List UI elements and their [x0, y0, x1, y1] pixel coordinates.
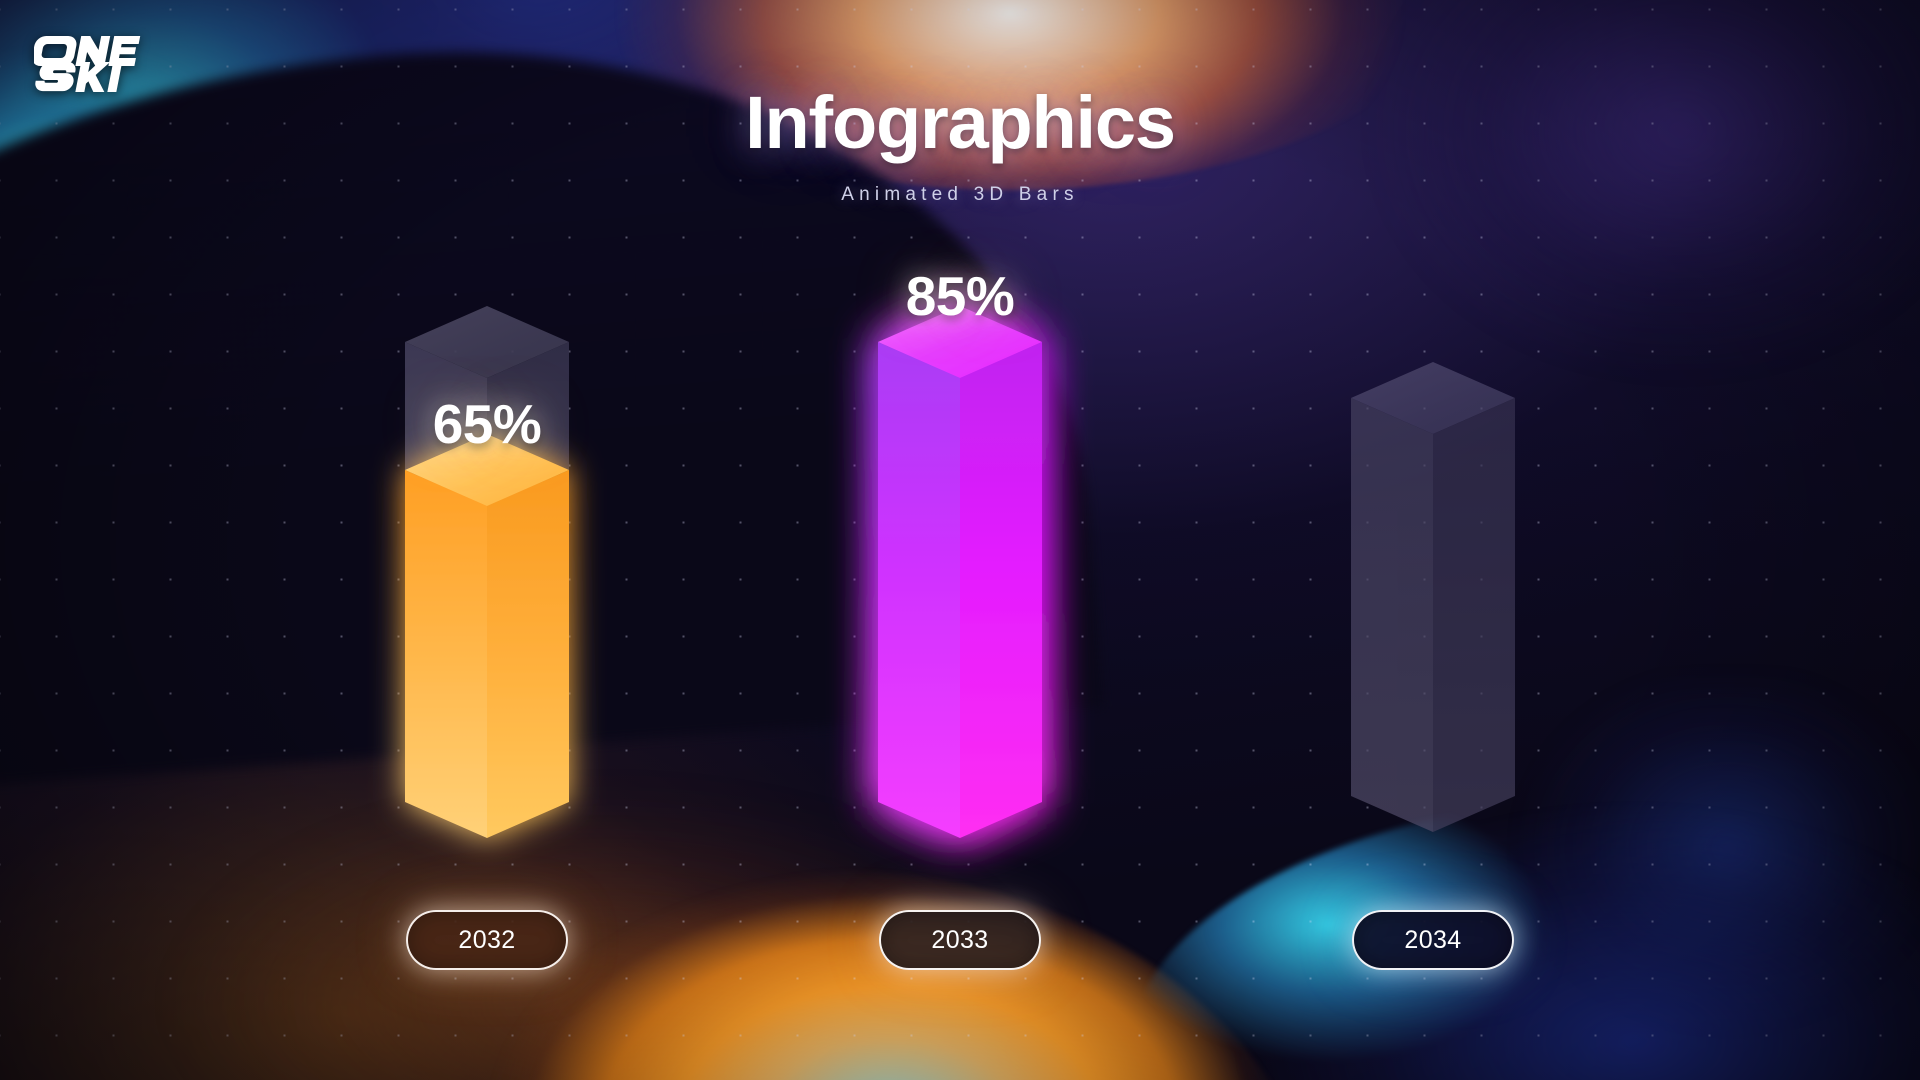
bar-value-label-2032: 65% [433, 392, 542, 456]
page-subtitle: Animated 3D Bars [0, 184, 1920, 206]
bar-label-wrap-2033: 2033 [879, 910, 1041, 970]
bar-geometry-2032 [387, 296, 587, 874]
bar-year-badge-2032[interactable]: 2032 [406, 910, 568, 970]
bar-column-2033[interactable]: 85% 2033 [850, 296, 1070, 970]
bar-column-2032[interactable]: 65% 2032 [377, 296, 597, 970]
bar-geometry-2034 [1333, 354, 1533, 874]
bar-chart: 65% 2032 [0, 240, 1920, 980]
bar-prism-2034[interactable] [1333, 354, 1533, 874]
bar-prism-2032[interactable]: 65% [387, 296, 587, 874]
bar-value-label-2033: 85% [906, 264, 1015, 328]
page-title: Infographics [0, 86, 1920, 160]
brand-logo[interactable] [34, 32, 144, 94]
bar-column-2034[interactable]: 2034 [1323, 354, 1543, 970]
slide-canvas: Infographics Animated 3D Bars [0, 0, 1920, 1080]
bar-prism-2033[interactable]: 85% [860, 296, 1060, 874]
slide-header: Infographics Animated 3D Bars [0, 86, 1920, 206]
bar-label-wrap-2032: 2032 [406, 910, 568, 970]
bar-year-badge-2034[interactable]: 2034 [1352, 910, 1514, 970]
bar-year-badge-2033[interactable]: 2033 [879, 910, 1041, 970]
bar-label-wrap-2034: 2034 [1352, 910, 1514, 970]
bar-geometry-2033 [860, 296, 1060, 874]
